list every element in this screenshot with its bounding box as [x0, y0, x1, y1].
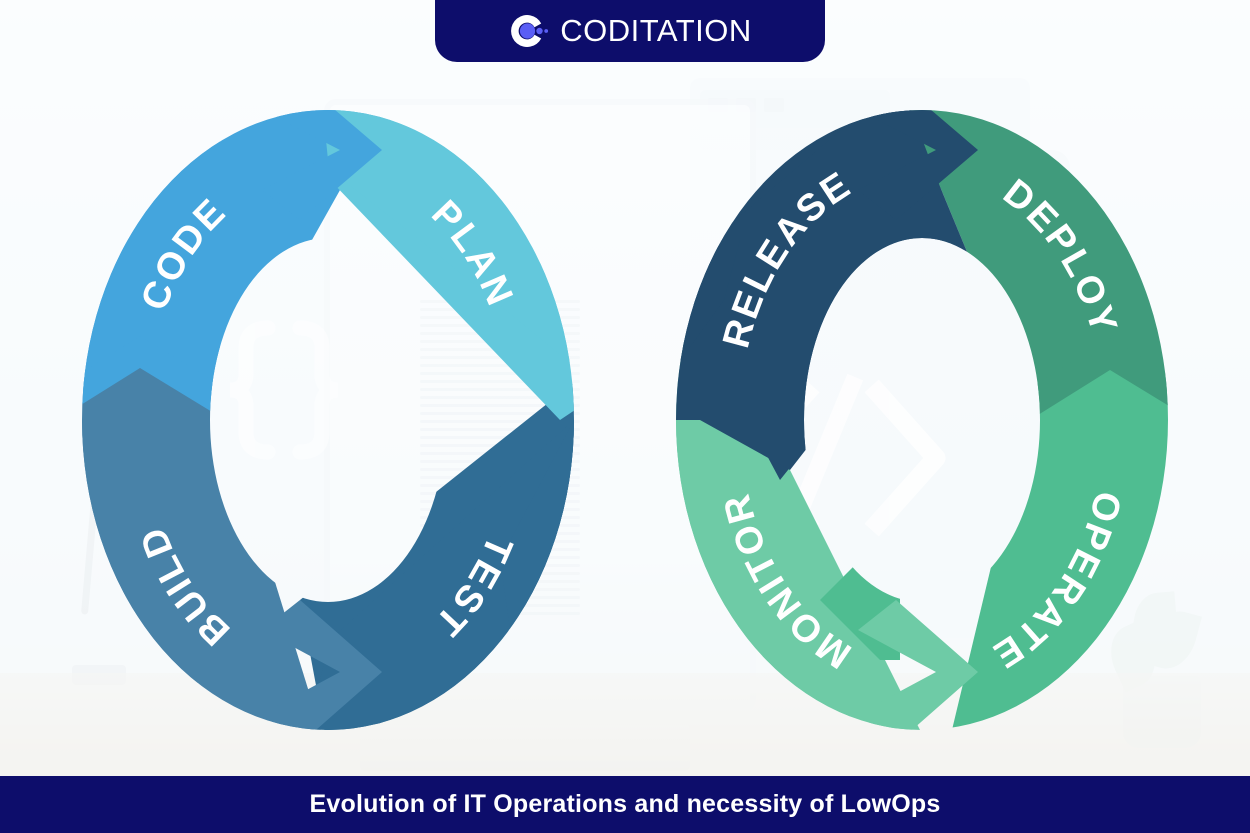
left-loop-watermark	[230, 328, 338, 452]
release-chevron-tip	[560, 250, 690, 372]
devops-infinity-loop: CODE PLAN TEST BUILD RELEASE DEPLOY OPER…	[0, 0, 1250, 833]
footer-banner: Evolution of IT Operations and necessity…	[0, 776, 1250, 833]
footer-title: Evolution of IT Operations and necessity…	[310, 790, 941, 819]
slide-canvas: CODE PLAN TEST BUILD RELEASE DEPLOY OPER…	[0, 0, 1250, 833]
coditation-ring-logo-icon	[508, 11, 548, 51]
brand-name: CODITATION	[560, 13, 752, 49]
segment-plan-body2	[330, 60, 660, 420]
brand-header-pill[interactable]: CODITATION	[435, 0, 825, 62]
